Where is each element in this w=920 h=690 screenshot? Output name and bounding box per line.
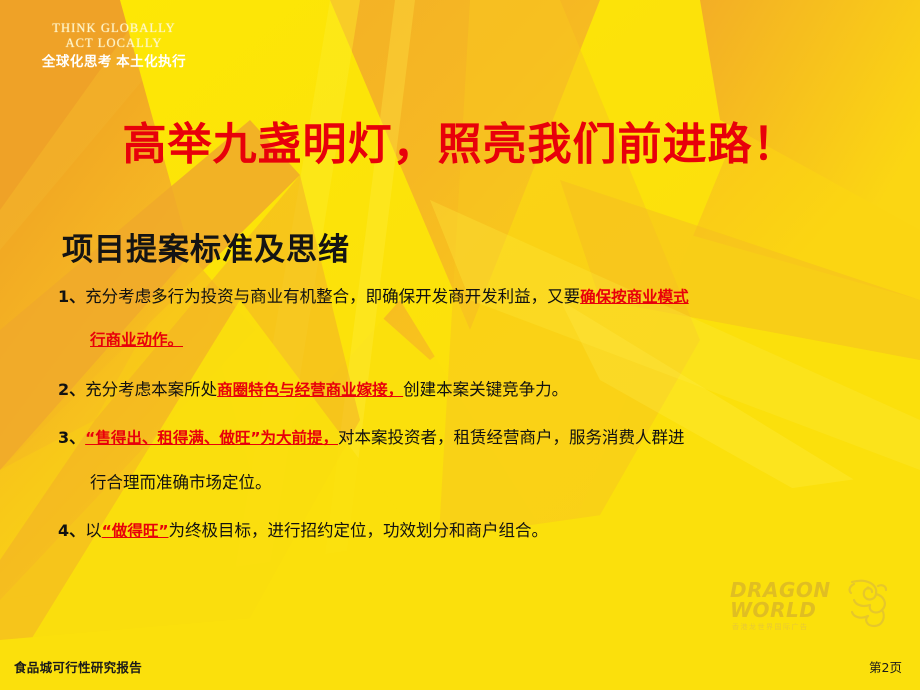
list-item: 1、充分考虑多行为投资与商业有机整合，即确保开发商开发利益，又要确保按商业模式 … <box>58 286 858 351</box>
presentation-slide: THINK GLOBALLY ACT LOCALLY 全球化思考 本土化执行 高… <box>0 0 920 690</box>
list-item-text-plain: 充分考虑多行为投资与商业有机整合，即确保开发商开发利益，又要 <box>85 287 580 306</box>
footer-page-number: 第2页 <box>869 657 902 676</box>
slide-title: 高举九盏明灯，照亮我们前进路！ <box>0 108 920 172</box>
list-item-text-highlight: 商圈特色与经营商业嫁接， <box>217 381 403 399</box>
list-item-number: 4、 <box>58 521 85 540</box>
list-item-number: 3、 <box>58 428 85 447</box>
list-item-text-plain: 对本案投资者，租赁经营商户，服务消费人群进 <box>338 428 685 447</box>
list-item-text-plain: 充分考虑本案所处 <box>85 380 217 399</box>
list-item-text-plain-tail: 创建本案关键竞争力。 <box>403 380 568 399</box>
list-item-text-plain: 以 <box>85 521 102 540</box>
dragon-world-line2: WORLD <box>730 600 848 620</box>
brand-tagline-line1: THINK GLOBALLY <box>24 22 204 35</box>
dragon-world-line1: DRAGON <box>730 580 848 600</box>
dragon-world-logo: DRAGON WORLD 香港龙世界国际广告 <box>730 576 890 638</box>
dragon-world-subtitle: 香港龙世界国际广告 <box>732 622 809 632</box>
slide-subtitle: 项目提案标准及思绪 <box>62 224 350 269</box>
footer-document-title: 食品城可行性研究报告 <box>14 657 142 676</box>
content-list: 1、充分考虑多行为投资与商业有机整合，即确保开发商开发利益，又要确保按商业模式 … <box>58 286 858 558</box>
list-item-continuation: 行合理而准确市场定位。 <box>90 472 858 494</box>
list-item: 4、以“做得旺”为终极目标，进行招约定位，功效划分和商户组合。 <box>58 520 858 542</box>
brand-tagline-chinese: 全球化思考 本土化执行 <box>24 55 204 69</box>
list-item-text-plain-tail: 为终极目标，进行招约定位，功效划分和商户组合。 <box>169 521 549 540</box>
list-item-number: 2、 <box>58 380 85 399</box>
list-item-text-highlight: “售得出、租得满、做旺”为大前提， <box>85 429 338 447</box>
brand-logo: THINK GLOBALLY ACT LOCALLY 全球化思考 本土化执行 <box>24 22 204 69</box>
dragon-world-wordmark: DRAGON WORLD <box>730 580 848 621</box>
list-item: 2、充分考虑本案所处商圈特色与经营商业嫁接，创建本案关键竞争力。 <box>58 379 858 401</box>
list-item-text-highlight: 确保按商业模式 <box>580 288 689 306</box>
list-item: 3、“售得出、租得满、做旺”为大前提，对本案投资者，租赁经营商户，服务消费人群进… <box>58 427 858 494</box>
list-item-number: 1、 <box>58 287 85 306</box>
brand-tagline-line2: ACT LOCALLY <box>24 37 204 50</box>
dragon-icon <box>842 576 890 634</box>
list-item-text-highlight: “做得旺” <box>102 522 169 540</box>
list-item-continuation: 行商业动作。 <box>90 330 858 351</box>
